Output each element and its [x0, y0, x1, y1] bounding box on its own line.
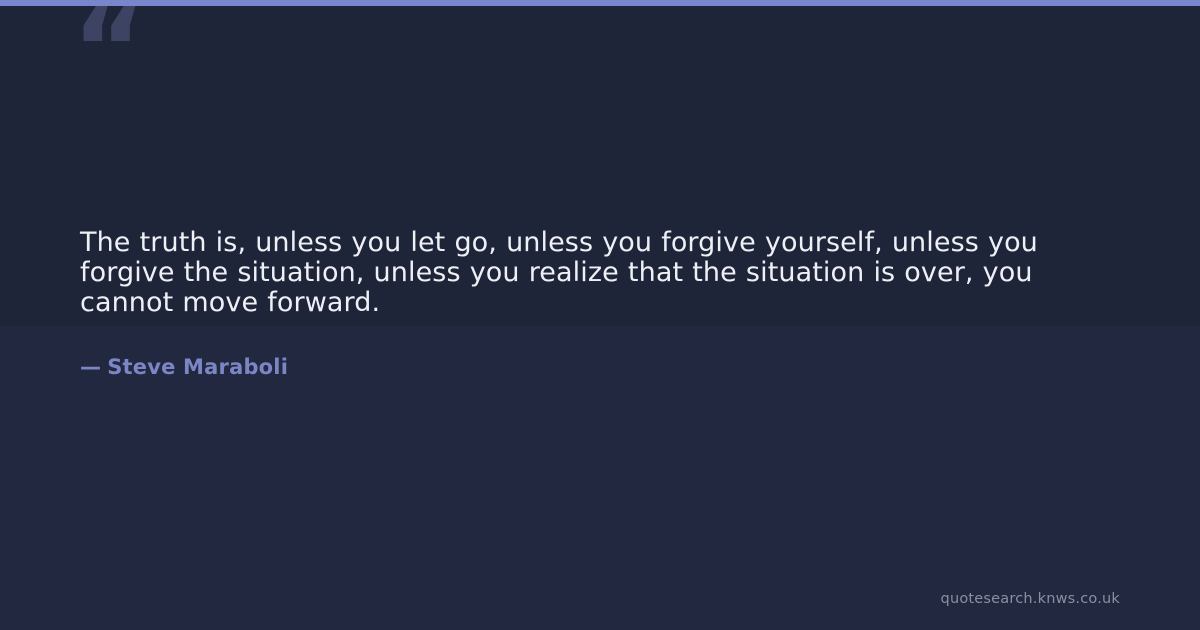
top-accent-bar	[0, 0, 1200, 6]
quote-content: The truth is, unless you let go, unless …	[80, 228, 1126, 380]
quote-card: “ The truth is, unless you let go, unles…	[0, 0, 1200, 630]
quote-author: —Steve Maraboli	[80, 318, 1126, 380]
open-quote-icon: “	[72, 0, 144, 106]
author-name: Steve Maraboli	[107, 355, 288, 379]
site-url-label: quotesearch.knws.co.uk	[941, 590, 1120, 608]
quote-text: The truth is, unless you let go, unless …	[80, 228, 1126, 318]
author-dash: —	[80, 355, 107, 379]
